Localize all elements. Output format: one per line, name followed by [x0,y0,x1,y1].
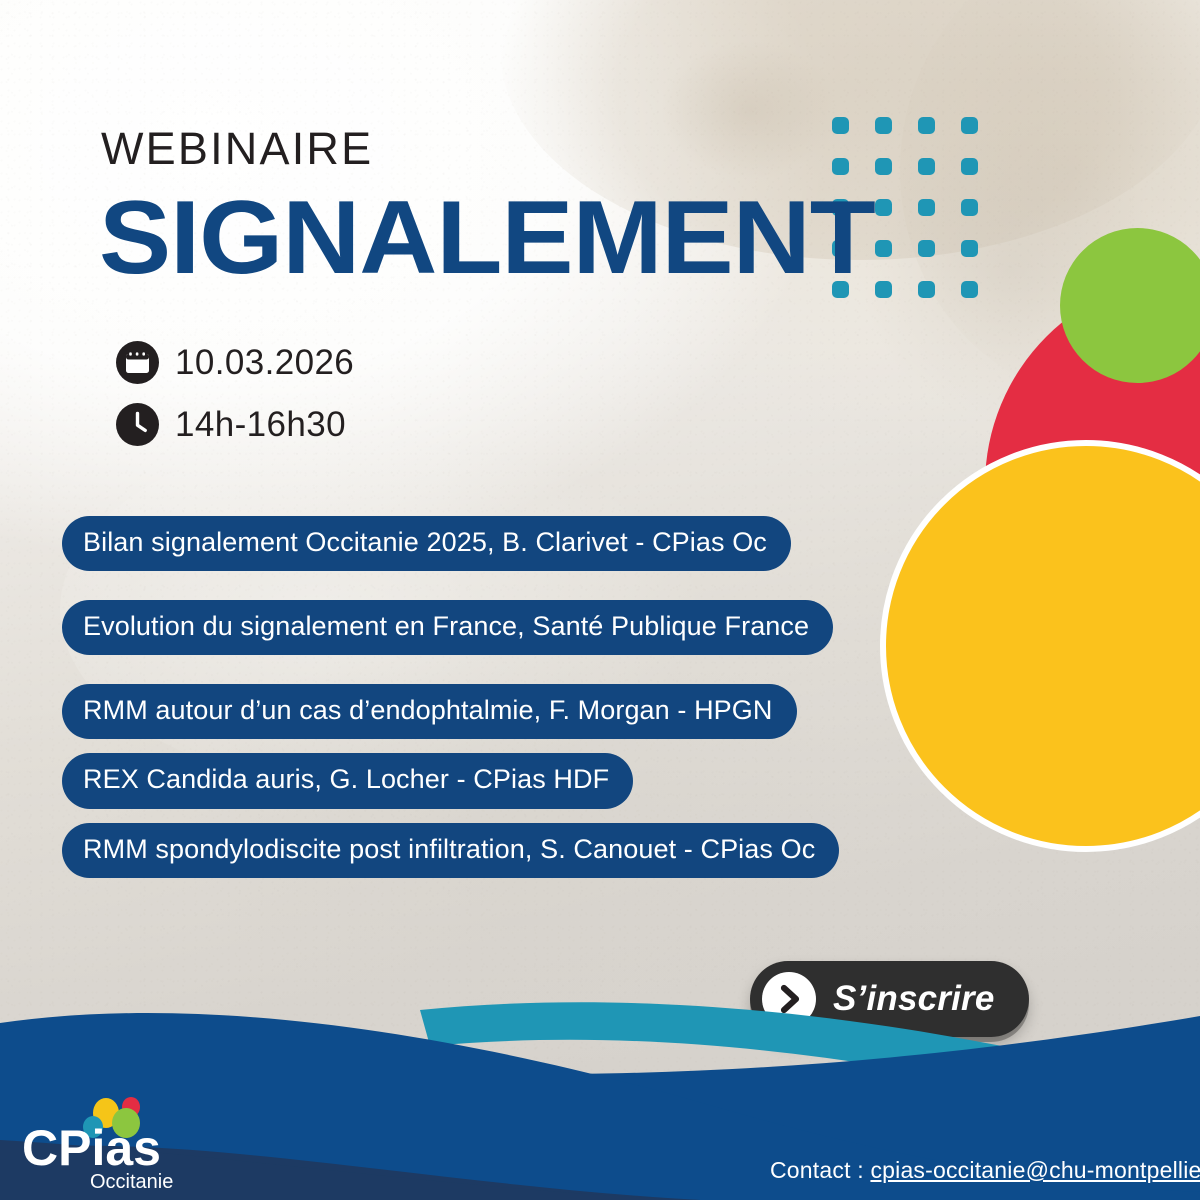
event-kicker: WEBINAIRE [101,126,373,171]
grid-dot [875,117,892,134]
event-time-row: 14h-16h30 [116,403,346,446]
contact-email[interactable]: cpias-occitanie@chu-montpellier.fr [870,1157,1200,1183]
program-row: RMM spondylodiscite post infiltration, S… [62,823,942,878]
calendar-icon [116,341,159,384]
grid-dot [875,199,892,216]
page-title: SIGNALEMENT [99,186,875,290]
grid-dot [832,158,849,175]
program-list: Bilan signalement Occitanie 2025, B. Cla… [62,516,942,907]
grid-dot [918,240,935,257]
list-item: RMM spondylodiscite post infiltration, S… [62,823,839,878]
webinar-poster: WEBINAIRE SIGNALEMENT 10.03.2026 [0,0,1200,1200]
grid-dot [875,281,892,298]
list-item: Evolution du signalement en France, Sant… [62,600,833,655]
program-row: Bilan signalement Occitanie 2025, B. Cla… [62,516,942,571]
grid-dot [832,117,849,134]
program-row: Evolution du signalement en France, Sant… [62,600,942,655]
list-item: REX Candida auris, G. Locher - CPias HDF [62,753,633,808]
grid-dot [918,117,935,134]
program-row: REX Candida auris, G. Locher - CPias HDF [62,753,942,808]
grid-dot [961,240,978,257]
grid-dot [961,117,978,134]
logo-wordmark: CPias [22,1120,161,1176]
grid-dot [875,158,892,175]
grid-dot [961,281,978,298]
grid-dot [918,158,935,175]
logo-region: Occitanie [90,1171,173,1193]
event-date-row: 10.03.2026 [116,341,354,384]
grid-dot [961,199,978,216]
list-item: Bilan signalement Occitanie 2025, B. Cla… [62,516,791,571]
grid-dot [875,240,892,257]
event-time: 14h-16h30 [175,407,346,442]
grid-dot [918,199,935,216]
cpias-logo: CPias Occitanie [18,1093,223,1193]
grid-dot [918,281,935,298]
contact-label: Contact : [770,1157,870,1183]
list-item: RMM autour d’un cas d’endophtalmie, F. M… [62,684,797,739]
event-date: 10.03.2026 [175,345,354,380]
program-row: RMM autour d’un cas d’endophtalmie, F. M… [62,684,942,739]
clock-icon [116,403,159,446]
footer-contact: Contact : cpias-occitanie@chu-montpellie… [770,1157,1200,1184]
grid-dot [961,158,978,175]
